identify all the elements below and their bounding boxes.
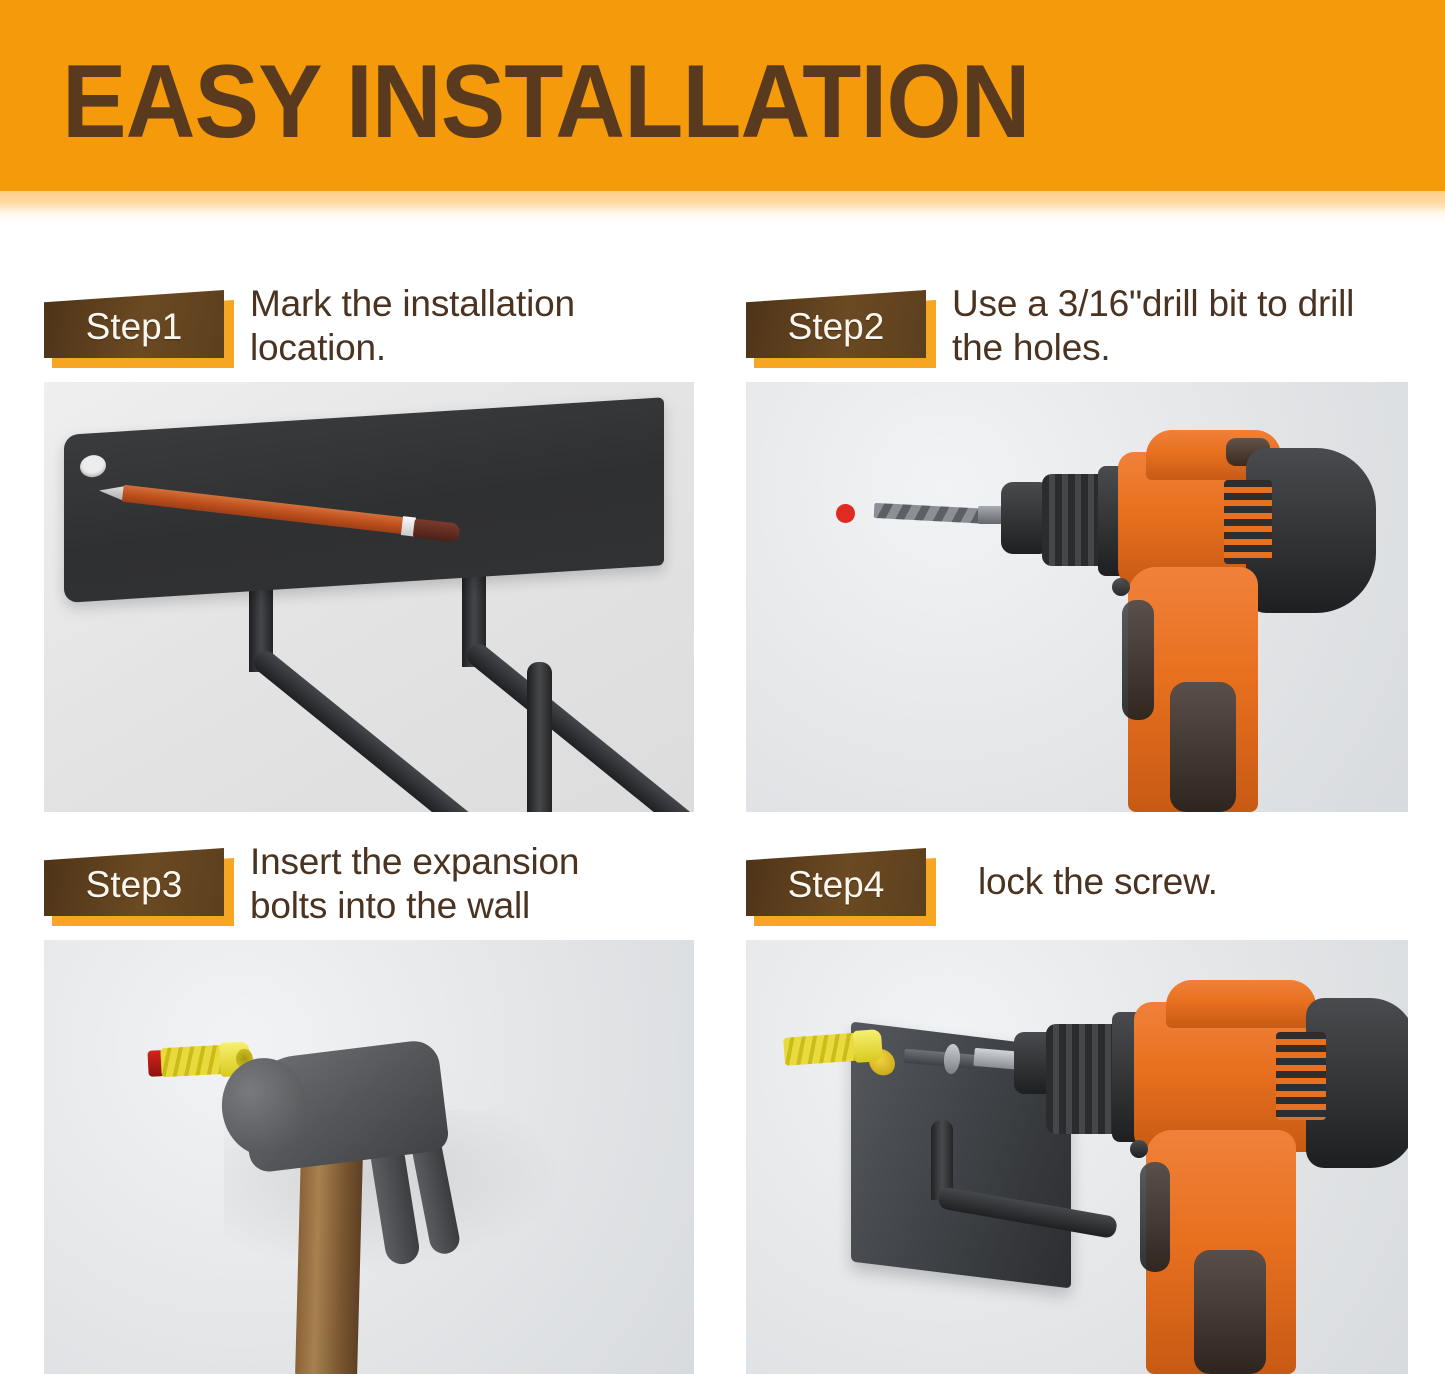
drill-screw-detail xyxy=(1130,1140,1148,1158)
drill-grip-pad xyxy=(1170,682,1236,812)
step-badge-label-3: Step3 xyxy=(44,848,224,916)
step-badge-label-4: Step4 xyxy=(746,848,926,916)
step-description-3: Insert the expansion bolts into the wall xyxy=(250,840,694,928)
step-badge-label-2: Step2 xyxy=(746,290,926,358)
step-badge-label-1: Step1 xyxy=(44,290,224,358)
step-description-4: lock the screw. xyxy=(978,860,1408,904)
hammer-handle xyxy=(295,1151,363,1374)
steps-grid: Step1 Mark the installation location. xyxy=(0,222,1445,1364)
step-card-3: Step3 Insert the expansion bolts into th… xyxy=(44,848,694,1374)
step-description-1: Mark the installation location. xyxy=(250,282,694,370)
page-title: EASY INSTALLATION xyxy=(62,50,1030,154)
step-header-2: Step2 Use a 3/16"drill bit to drill the … xyxy=(746,290,1408,372)
step-header-3: Step3 Insert the expansion bolts into th… xyxy=(44,848,694,930)
banner-fade xyxy=(0,212,1445,222)
drill-chuck-collar xyxy=(1046,1024,1122,1134)
drill-top-housing xyxy=(1166,980,1316,1028)
anchor-collar xyxy=(853,1029,883,1063)
step-header-1: Step1 Mark the installation location. xyxy=(44,290,694,372)
step-illustration-3 xyxy=(44,940,694,1374)
plate-screw-hole xyxy=(80,454,106,478)
drill-vent-grille xyxy=(1276,1032,1326,1120)
step-badge-2: Step2 xyxy=(746,290,936,372)
step-card-1: Step1 Mark the installation location. xyxy=(44,290,694,812)
step-illustration-1 xyxy=(44,382,694,812)
step-illustration-2 xyxy=(746,382,1408,812)
step-illustration-4 xyxy=(746,940,1408,1374)
header-banner: EASY INSTALLATION xyxy=(0,0,1445,191)
drill-screw-detail xyxy=(1112,578,1130,596)
banner-underglow xyxy=(0,191,1445,212)
step-card-2: Step2 Use a 3/16"drill bit to drill the … xyxy=(746,290,1408,812)
drill-grip-pad xyxy=(1194,1250,1266,1374)
step-description-2: Use a 3/16"drill bit to drill the holes. xyxy=(952,282,1408,370)
anchor-ribbed-body xyxy=(160,1045,223,1077)
step-badge-3: Step3 xyxy=(44,848,234,930)
hook-vertical-post xyxy=(527,662,552,812)
drill-trigger xyxy=(1122,600,1154,720)
anchor-ribbed-body xyxy=(783,1033,859,1066)
step-card-4: Step4 lock the screw. xyxy=(746,848,1408,1374)
drill-vent-grille xyxy=(1224,480,1272,564)
drill-trigger xyxy=(1140,1162,1170,1272)
drill-mark-dot xyxy=(836,504,855,523)
step-header-4: Step4 lock the screw. xyxy=(746,848,1408,930)
step-badge-1: Step1 xyxy=(44,290,234,372)
step-badge-4: Step4 xyxy=(746,848,936,930)
